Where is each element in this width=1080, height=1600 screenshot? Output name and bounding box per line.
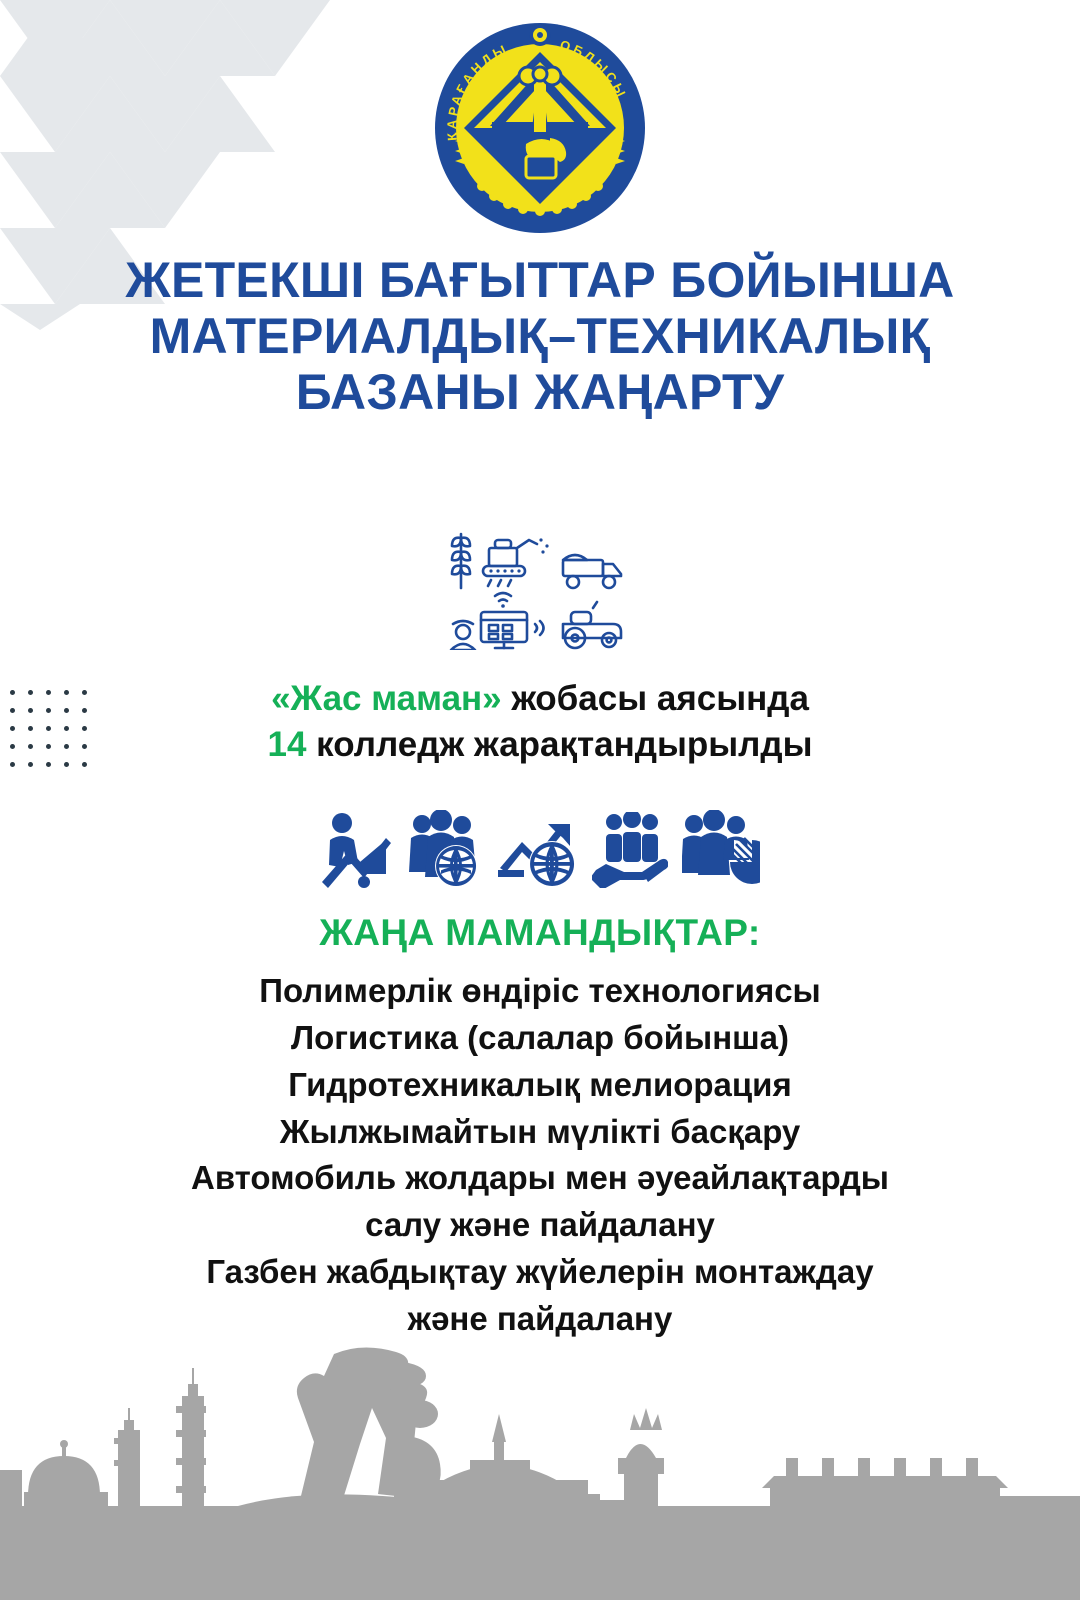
tractor-icon (563, 602, 621, 648)
list-item: Жылжымайтын мүлікті басқару (60, 1109, 1020, 1156)
harvester-icon (483, 538, 549, 586)
hand-holding-people-icon (592, 812, 668, 888)
page-title: ЖЕТЕКШІ БАҒЫТТАР БОЙЫНША МАТЕРИАЛДЫҚ–ТЕХ… (110, 252, 970, 420)
karaganda-city-skyline-silhouette (0, 1310, 1080, 1600)
human-capital-icon-row (320, 806, 760, 888)
list-item: Полимерлік өндіріс технологиясы (60, 968, 1020, 1015)
agriculture-technology-icon-cluster (445, 520, 635, 650)
wheat-stalk-icon (452, 534, 470, 588)
people-with-pie-chart-icon (682, 810, 760, 888)
list-item: Логистика (салалар бойынша) (60, 1015, 1020, 1062)
poster-canvas: ҚАРАҒАНДЫ ОБЛЫСЫ (0, 0, 1080, 1600)
project-name: «Жас маман» (271, 679, 502, 718)
list-item: Автомобиль жолдары мен әуеайлақтарды сал… (60, 1155, 1020, 1249)
list-item: Гидротехникалық мелиорация (60, 1062, 1020, 1109)
signal-waves-icon (535, 621, 544, 635)
subtitle-line-1-rest: жобасы аясында (502, 679, 809, 718)
project-subtitle: «Жас маман» жобасы аясында 14 колледж жа… (130, 676, 950, 768)
subtitle-line-1: «Жас маман» жобасы аясында (130, 676, 950, 722)
dot-grid-decoration (10, 690, 100, 780)
list-item: Газбен жабдықтау жүйелерін монтаждау жән… (60, 1249, 1020, 1343)
growth-arrow-with-globe-icon (498, 816, 578, 888)
farmer-with-monitor-icon (451, 612, 527, 650)
specialities-list: Полимерлік өндіріс технологиясы Логистик… (60, 968, 1020, 1343)
people-with-globe-icon (408, 810, 484, 888)
college-count: 14 (268, 725, 307, 764)
subtitle-line-2: 14 колледж жарақтандырылды (130, 722, 950, 768)
subtitle-line-2-rest: колледж жарақтандырылды (306, 725, 812, 764)
person-with-growth-chart-icon (320, 810, 394, 888)
region-emblem: ҚАРАҒАНДЫ ОБЛЫСЫ (430, 18, 650, 238)
wifi-signal-icon (495, 593, 511, 608)
specialities-heading: ЖАҢА МАМАНДЫҚТАР: (90, 912, 990, 954)
dump-truck-icon (563, 555, 621, 588)
